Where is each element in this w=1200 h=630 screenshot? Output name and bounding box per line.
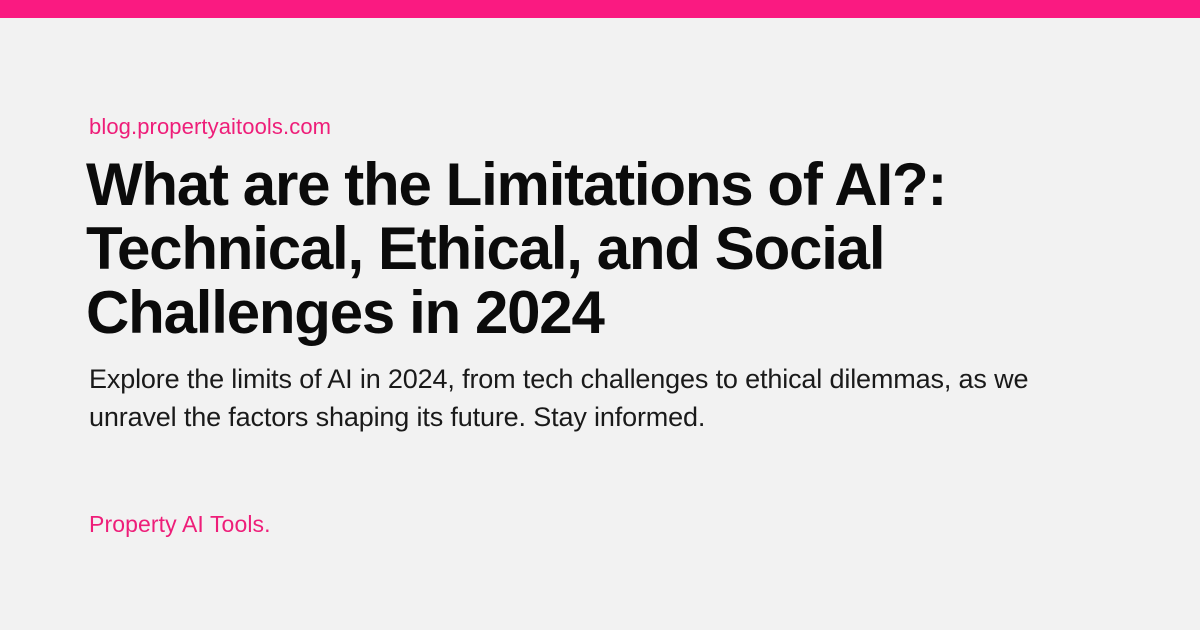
social-share-card: blog.propertyaitools.com What are the Li…	[0, 0, 1200, 630]
card-content: blog.propertyaitools.com What are the Li…	[89, 18, 1111, 630]
page-title: What are the Limitations of AI?: Technic…	[86, 153, 1086, 345]
site-url-link[interactable]: blog.propertyaitools.com	[89, 113, 331, 141]
site-name-label[interactable]: Property AI Tools.	[89, 509, 271, 539]
page-description: Explore the limits of AI in 2024, from t…	[89, 360, 1089, 436]
top-accent-bar	[0, 0, 1200, 18]
